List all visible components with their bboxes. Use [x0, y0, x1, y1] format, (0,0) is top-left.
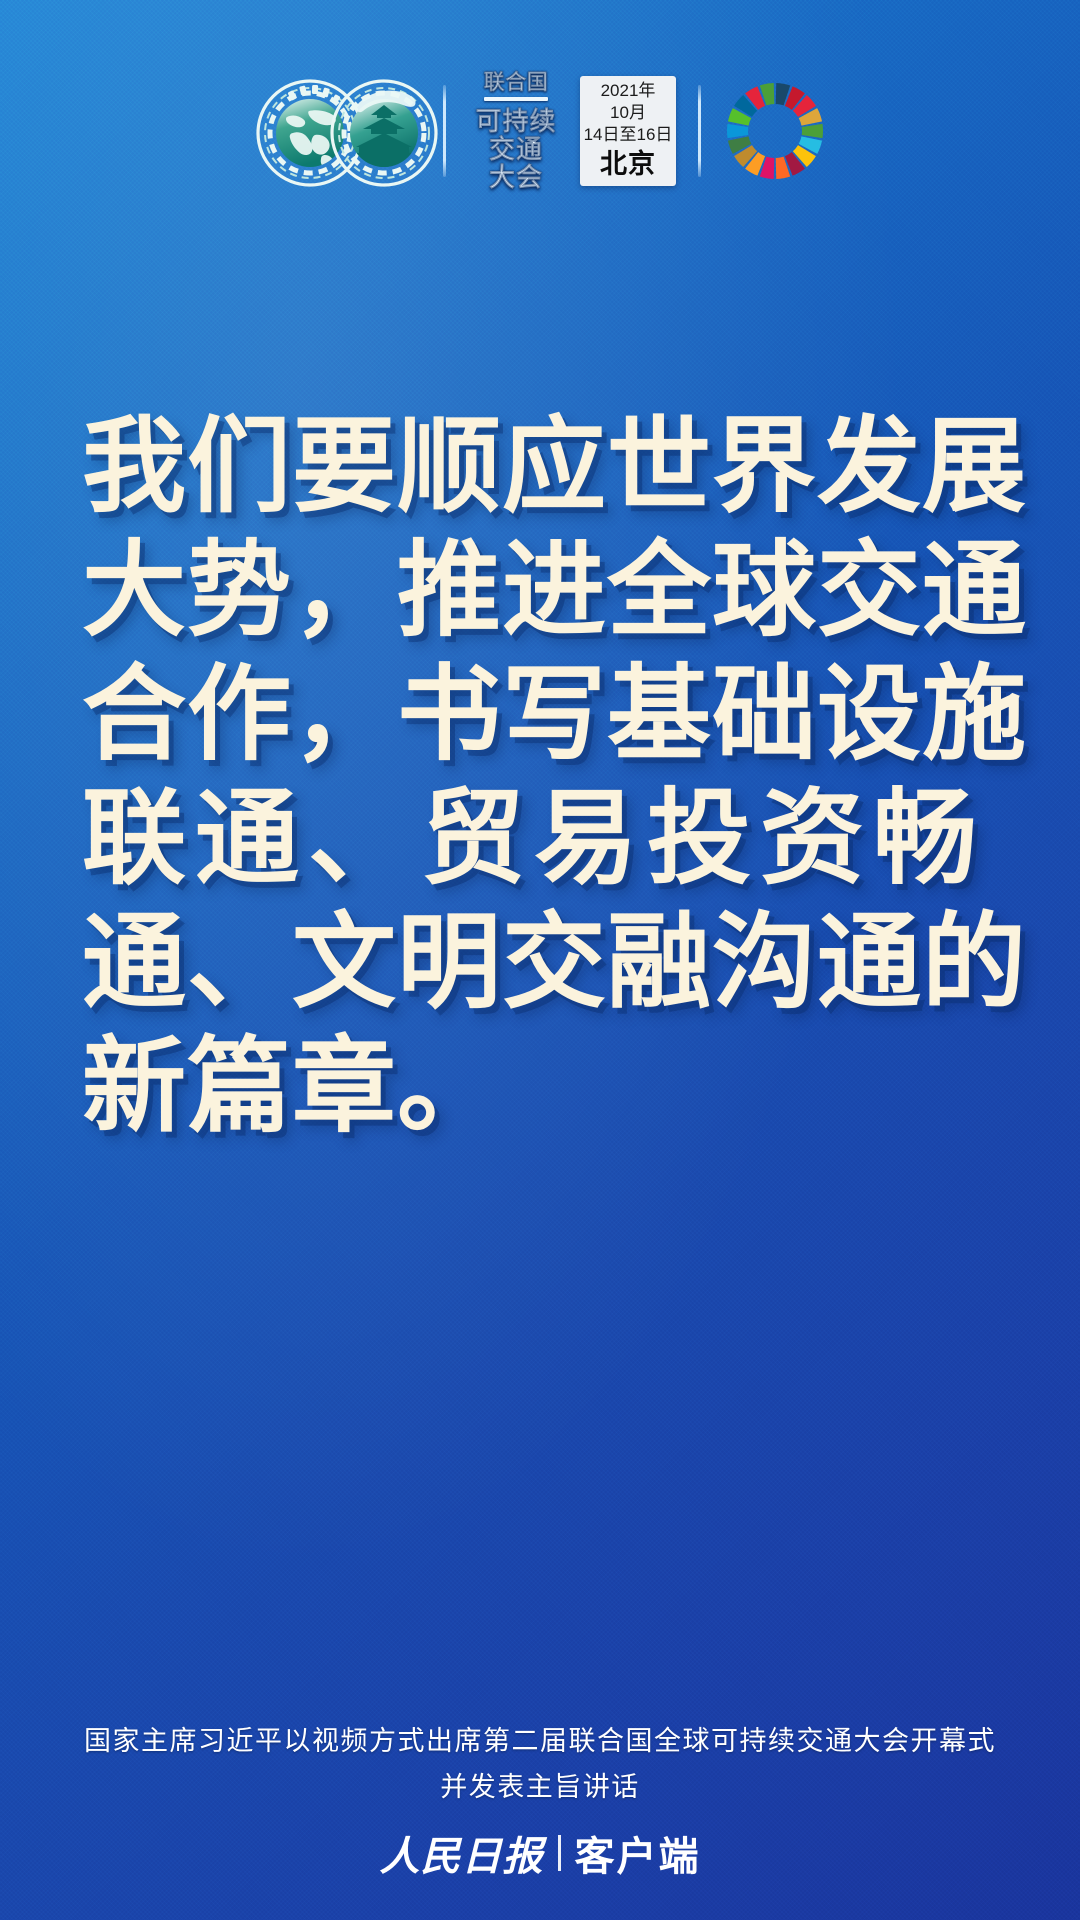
headline-line-1: 我们要顺应世界发展	[82, 405, 1020, 529]
date-year: 2021年	[601, 80, 656, 102]
publisher-name: 人民日报	[380, 1824, 544, 1882]
date-days: 14日至16日	[584, 124, 673, 146]
poster-root: 联合国 可持续 交通 大会 2021年 10月 14日至16日 北京 我们要顺应…	[0, 0, 1080, 1920]
caption-block: 国家主席习近平以视频方式出席第二届联合国全球可持续交通大会开幕式 并发表主旨讲话	[0, 1718, 1080, 1810]
caption-line-2: 并发表主旨讲话	[0, 1764, 1080, 1810]
header-lockup: 联合国 可持续 交通 大会 2021年 10月 14日至16日 北京	[0, 68, 1080, 193]
conference-name-line-2: 交通	[489, 136, 543, 162]
divider-right	[698, 85, 701, 177]
headline-line-2: 大势，推进全球交通	[82, 529, 1020, 653]
date-city: 北京	[600, 148, 656, 180]
sdg-color-wheel	[723, 79, 827, 183]
un-sustainable-transport-conference-emblem	[253, 71, 443, 191]
sdg-wheel-icon	[723, 79, 827, 183]
conference-name-block: 联合国 可持续 交通 大会	[472, 72, 560, 190]
product-name: 客户端	[575, 1824, 701, 1882]
conference-name-rule	[484, 97, 548, 101]
caption-line-1: 国家主席习近平以视频方式出席第二届联合国全球可持续交通大会开幕式	[0, 1718, 1080, 1764]
conference-name-line-1: 可持续	[475, 108, 556, 134]
brand-separator	[558, 1835, 561, 1871]
conference-org-label: 联合国	[484, 72, 549, 93]
headline-line-5: 通、文明交融沟通的	[82, 901, 1020, 1025]
conference-name-line-3: 大会	[489, 164, 543, 190]
headline-line-4: 联通、贸易投资畅	[82, 777, 1020, 901]
emblem-icon	[253, 71, 443, 191]
date-location-card: 2021年 10月 14日至16日 北京	[580, 76, 676, 186]
headline-line-6: 新篇章。	[82, 1025, 1020, 1149]
headline-block: 我们要顺应世界发展 大势，推进全球交通 合作，书写基础设施 联通、贸易投资畅 通…	[82, 405, 1020, 1149]
divider-left	[443, 85, 446, 177]
sdg-wheel-segment	[727, 123, 748, 137]
publisher-brand: 人民日报 客户端	[0, 1824, 1080, 1882]
date-month: 10月	[610, 102, 646, 124]
sdg-wheel-segment	[802, 123, 823, 137]
headline-line-3: 合作，书写基础设施	[82, 653, 1020, 777]
